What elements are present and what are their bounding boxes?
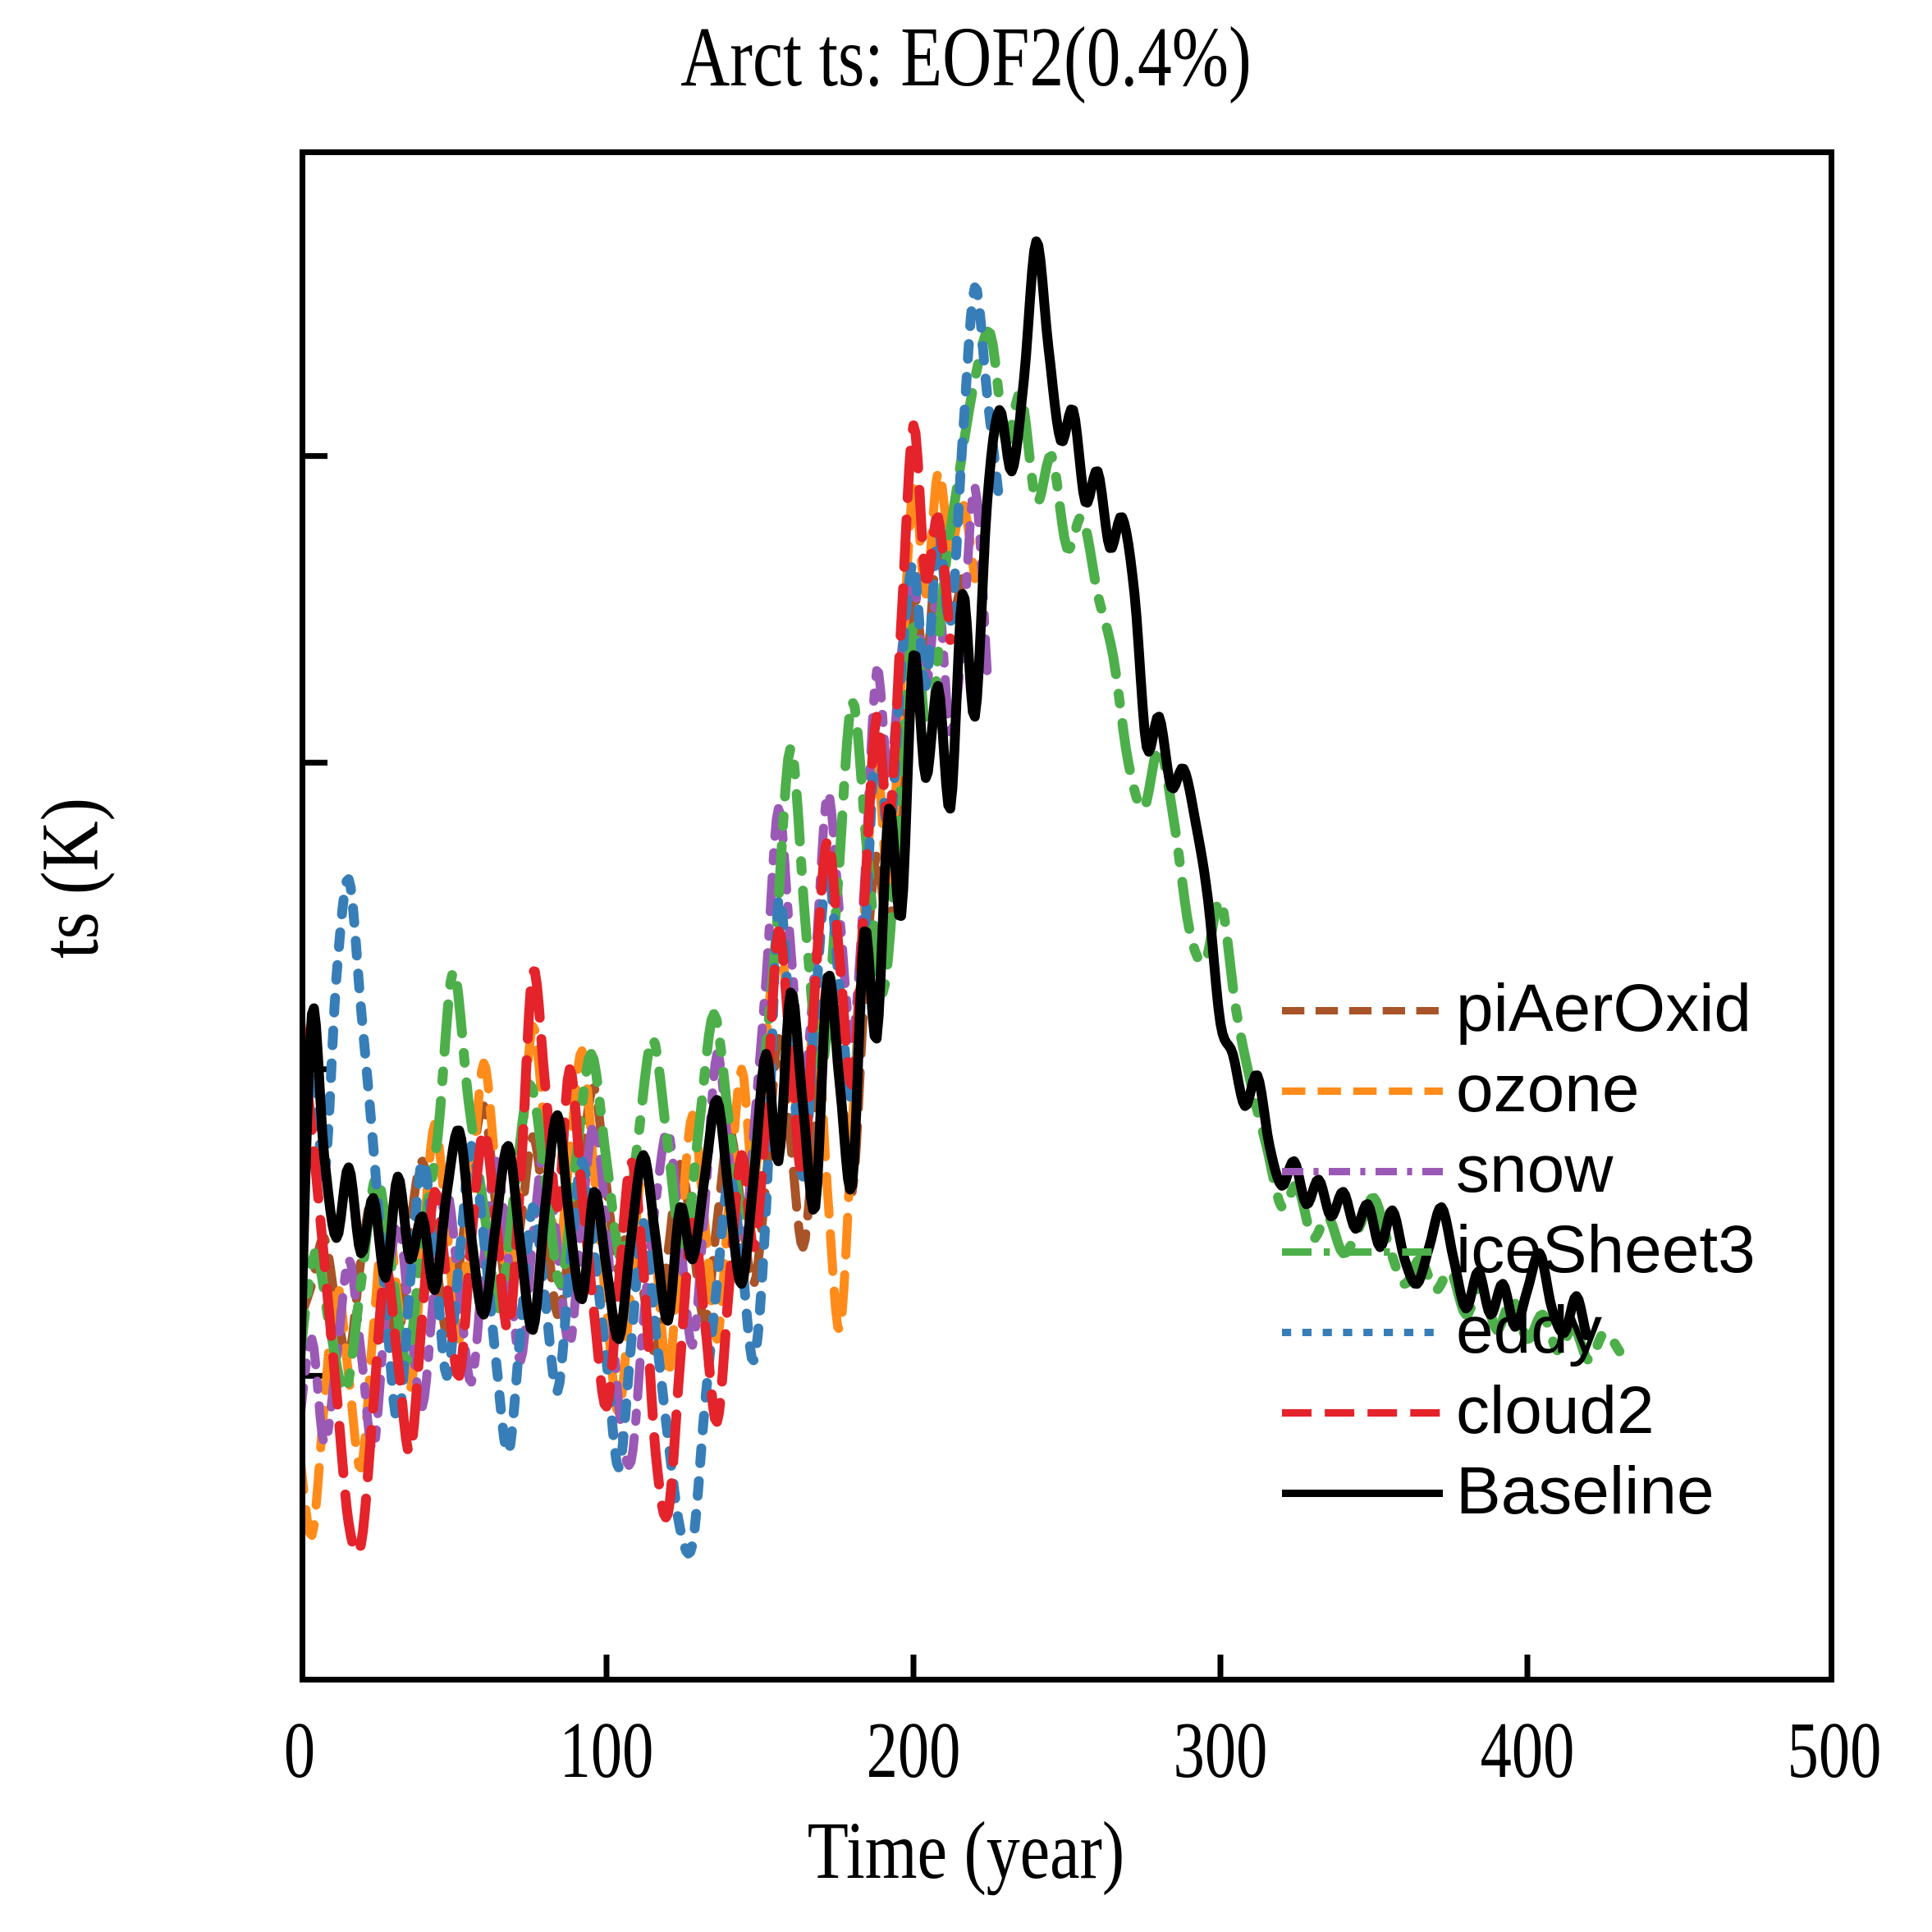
x-axis-title: Time (year) <box>174 1806 1758 1896</box>
legend-item-ozone[interactable]: ozone <box>1280 1049 1929 1129</box>
legend-item-eddy[interactable]: eddy <box>1280 1290 1929 1371</box>
figure-canvas: Arct ts: EOF2(0.4%) ts (K) Time (year) 3… <box>0 0 1932 1932</box>
legend-swatch-ozone-icon <box>1280 1083 1444 1095</box>
legend-label: ozone <box>1456 1055 1639 1123</box>
legend-label: eddy <box>1456 1297 1602 1364</box>
x-tick-label: 200 <box>867 1710 961 1791</box>
legend-item-baseline[interactable]: Baseline <box>1280 1451 1929 1531</box>
legend-swatch-snow-icon <box>1280 1164 1444 1175</box>
legend: piAerOxidozonesnowiceSheet3eddycloud2Bas… <box>1280 968 1929 1531</box>
legend-swatch-eddy-icon <box>1280 1325 1444 1336</box>
legend-label: iceSheet3 <box>1456 1216 1756 1284</box>
x-tick-label: 500 <box>1788 1710 1882 1791</box>
legend-item-icesheet3[interactable]: iceSheet3 <box>1280 1210 1929 1290</box>
legend-swatch-piaeroxid-icon <box>1280 1003 1444 1014</box>
legend-item-snow[interactable]: snow <box>1280 1129 1929 1210</box>
chart-title: Arct ts: EOF2(0.4%) <box>193 8 1738 107</box>
x-tick-label: 100 <box>560 1710 654 1791</box>
x-tick-label: 0 <box>284 1710 315 1791</box>
y-axis-title: ts (K) <box>29 798 111 959</box>
x-tick-label: 400 <box>1481 1710 1575 1791</box>
legend-swatch-baseline-icon <box>1280 1486 1444 1497</box>
legend-label: cloud2 <box>1456 1377 1655 1444</box>
legend-swatch-cloud2-icon <box>1280 1405 1444 1417</box>
legend-label: snow <box>1456 1136 1613 1203</box>
legend-item-piaeroxid[interactable]: piAerOxid <box>1280 968 1929 1049</box>
legend-item-cloud2[interactable]: cloud2 <box>1280 1371 1929 1451</box>
x-tick-label: 300 <box>1174 1710 1268 1791</box>
legend-swatch-icesheet3-icon <box>1280 1244 1444 1256</box>
legend-label: Baseline <box>1456 1458 1715 1525</box>
legend-label: piAerOxid <box>1456 975 1751 1042</box>
